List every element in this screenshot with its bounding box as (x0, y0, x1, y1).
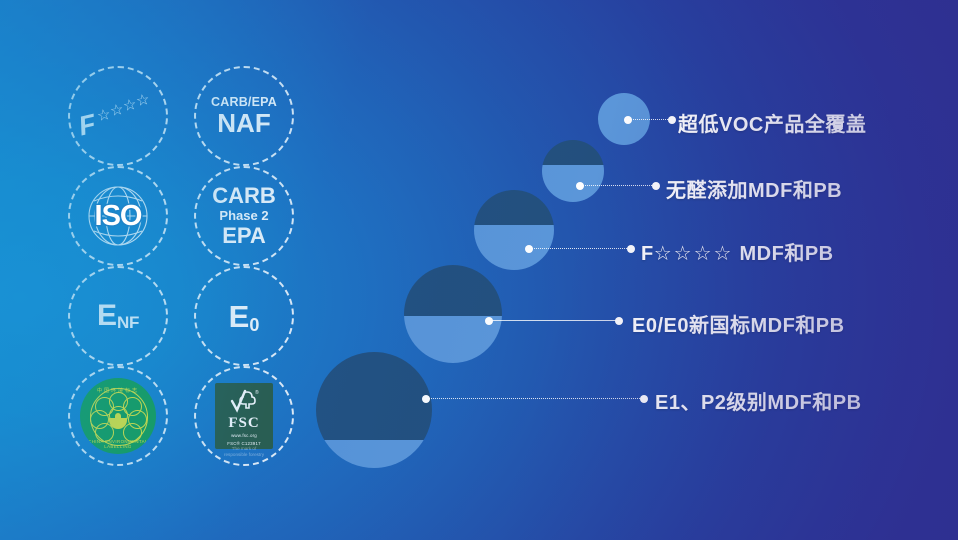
level-circle-rank-2 (404, 265, 502, 363)
carb-epa-label: CARB/EPA (211, 96, 277, 109)
connector-dot (485, 317, 493, 325)
badge-carb-phase2-epa: CARB Phase 2 EPA (194, 166, 294, 266)
phase2-label: Phase 2 (219, 209, 268, 222)
epa-label: EPA (222, 225, 266, 247)
connector-dot (624, 116, 632, 124)
fsc-mark: ® FSC www.fsc.org FSC® C123917 (215, 383, 273, 449)
cel-english-text: CHINA ENVIRONMENTAL LABELLING (80, 439, 156, 449)
level-label-rank-3: F☆☆☆☆ MDF和PB (641, 237, 834, 266)
circle-bottom-cap (316, 440, 432, 468)
slide-canvas: F ☆ ☆ ☆ ☆ CARB/EPA NAF (0, 0, 958, 540)
badge-iso: ISO (68, 166, 168, 266)
connector-dot (640, 395, 648, 403)
connector-rank-5 (628, 119, 672, 121)
carb-label: CARB (212, 185, 276, 207)
fsc-tagline: The mark ofresponsible forestry (196, 446, 292, 458)
level-label-suffix: MDF和PB (740, 243, 834, 265)
level-circle-rank-1 (316, 352, 432, 468)
circle-top-cap (404, 265, 502, 316)
badge-china-environmental-labelling: 中国环境标志 CHINA ENVIRONMENTAL LABELLING (68, 366, 168, 466)
e0-label: E0 (229, 301, 260, 332)
level-circle-rank-4 (542, 140, 604, 202)
connector-rank-3 (529, 248, 631, 250)
connector-dot (525, 245, 533, 253)
circle-bottom-cap (542, 165, 604, 202)
cel-chinese-text: 中国环境标志 (80, 387, 156, 394)
connector-rank-4 (580, 185, 656, 187)
star-icon: ☆ (135, 90, 151, 110)
level-label-prefix: F (641, 243, 654, 265)
certification-badge-grid: F ☆ ☆ ☆ ☆ CARB/EPA NAF (62, 66, 302, 466)
connector-dot (668, 116, 676, 124)
circle-top-cap (542, 140, 604, 165)
connector-dot (627, 245, 635, 253)
badge-fsc: ® FSC www.fsc.org FSC® C123917 The mark … (194, 366, 294, 466)
china-env-label-mark: 中国环境标志 CHINA ENVIRONMENTAL LABELLING (80, 378, 156, 454)
enf-label: ENF (97, 301, 139, 331)
level-label-rank-1: E1、P2级别MDF和PB (655, 386, 862, 415)
level-label-stars: ☆☆☆☆ (654, 243, 734, 265)
badge-enf: ENF (68, 266, 168, 366)
f-letter: F (76, 109, 99, 143)
connector-dot (576, 182, 584, 190)
iso-label: ISO (95, 202, 142, 231)
level-label-rank-5: 超低VOC产品全覆盖 (678, 108, 866, 137)
fsc-name: FSC (228, 415, 259, 432)
naf-label: NAF (217, 110, 270, 136)
svg-text:®: ® (255, 389, 259, 396)
badge-e0: E0 (194, 266, 294, 366)
connector-dot (615, 317, 623, 325)
level-label-rank-2: E0/E0新国标MDF和PB (632, 309, 845, 338)
badge-carb-epa-naf: CARB/EPA NAF (194, 66, 294, 166)
connector-rank-1 (426, 398, 644, 400)
circle-top-cap (316, 352, 432, 440)
level-label-rank-4: 无醛添加MDF和PB (666, 174, 842, 203)
badge-f-four-star: F ☆ ☆ ☆ ☆ (68, 66, 168, 166)
level-circle-rank-3 (474, 190, 554, 270)
f-star-mark: F ☆ ☆ ☆ ☆ (75, 86, 161, 146)
connector-rank-2 (489, 320, 619, 322)
fsc-tree-checkmark-icon: ® (229, 388, 259, 414)
connector-dot (652, 182, 660, 190)
fsc-url: www.fsc.org (231, 433, 257, 438)
connector-dot (422, 395, 430, 403)
